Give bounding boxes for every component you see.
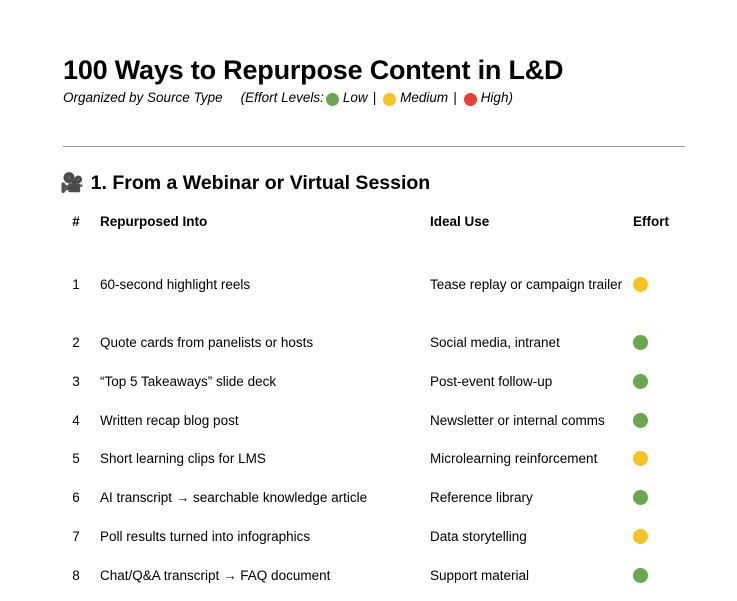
row-number: 7 bbox=[63, 527, 89, 546]
legend-item-high: High bbox=[462, 90, 509, 106]
row-effort-cell bbox=[633, 374, 679, 394]
row-ideal-use: Social media, intranet bbox=[430, 333, 640, 352]
movie-camera-icon: 🎥 bbox=[60, 174, 84, 193]
row-number: 8 bbox=[63, 566, 89, 585]
row-effort-cell bbox=[633, 413, 679, 433]
row-repurposed-into: Quote cards from panelists or hosts bbox=[100, 333, 420, 352]
table-row: 4Written recap blog postNewsletter or in… bbox=[63, 411, 683, 430]
legend-separator-1: | bbox=[373, 90, 377, 106]
legend-label-medium: Medium bbox=[400, 90, 448, 106]
row-ideal-use: Microlearning reinforcement bbox=[430, 449, 640, 468]
row-effort-cell bbox=[633, 335, 679, 355]
section-heading-text: 1. From a Webinar or Virtual Session bbox=[91, 172, 431, 195]
effort-dot-medium-icon bbox=[633, 529, 648, 544]
effort-dot-low-icon bbox=[633, 413, 648, 428]
row-ideal-use: Reference library bbox=[430, 488, 640, 507]
column-header-use: Ideal Use bbox=[430, 214, 640, 229]
document-page: 100 Ways to Repurpose Content in L&D Org… bbox=[0, 0, 737, 577]
row-repurposed-into: Poll results turned into infographics bbox=[100, 527, 420, 546]
subtitle-row: Organized by Source Type (Effort Levels:… bbox=[63, 90, 513, 106]
legend-separator-2: | bbox=[453, 90, 457, 106]
row-number: 2 bbox=[63, 333, 89, 352]
row-repurposed-into: “Top 5 Takeaways” slide deck bbox=[100, 372, 420, 391]
column-header-number: # bbox=[63, 214, 89, 229]
table-row: 5Short learning clips for LMSMicrolearni… bbox=[63, 449, 683, 468]
legend-dot-low-icon bbox=[326, 93, 339, 106]
row-ideal-use: Support material bbox=[430, 566, 640, 585]
row-repurposed-into: Short learning clips for LMS bbox=[100, 449, 420, 468]
table-row: 160-second highlight reelsTease replay o… bbox=[63, 275, 683, 294]
table-row: 8Chat/Q&A transcript → FAQ documentSuppo… bbox=[63, 566, 683, 585]
row-repurposed-into: 60-second highlight reels bbox=[100, 275, 420, 294]
repurpose-table: # Repurposed Into Ideal Use Effort 160-s… bbox=[63, 214, 683, 601]
legend-label-high: High bbox=[481, 90, 509, 106]
table-row: 3“Top 5 Takeaways” slide deckPost-event … bbox=[63, 372, 683, 391]
table-body: 160-second highlight reelsTease replay o… bbox=[63, 241, 683, 601]
row-effort-cell bbox=[633, 529, 679, 549]
row-effort-cell bbox=[633, 568, 679, 588]
effort-dot-medium-icon bbox=[633, 451, 648, 466]
row-number: 1 bbox=[63, 275, 89, 294]
legend-label-low: Low bbox=[343, 90, 368, 106]
column-header-effort: Effort bbox=[633, 214, 679, 229]
table-row: 7Poll results turned into infographicsDa… bbox=[63, 527, 683, 546]
legend-dot-high-icon bbox=[464, 93, 477, 106]
effort-dot-low-icon bbox=[633, 374, 648, 389]
legend-dot-medium-icon bbox=[383, 93, 396, 106]
row-number: 3 bbox=[63, 372, 89, 391]
legend-suffix: ) bbox=[508, 90, 513, 106]
row-ideal-use: Data storytelling bbox=[430, 527, 640, 546]
row-repurposed-into: AI transcript → searchable knowledge art… bbox=[100, 488, 420, 507]
header-divider bbox=[63, 146, 685, 147]
effort-dot-low-icon bbox=[633, 335, 648, 350]
page-title: 100 Ways to Repurpose Content in L&D bbox=[63, 55, 563, 86]
row-number: 6 bbox=[63, 488, 89, 507]
legend-prefix: (Effort Levels: bbox=[241, 90, 324, 106]
row-ideal-use: Newsletter or internal comms bbox=[430, 411, 640, 430]
row-repurposed-into: Chat/Q&A transcript → FAQ document bbox=[100, 566, 420, 585]
effort-dot-low-icon bbox=[633, 568, 648, 583]
row-number: 5 bbox=[63, 449, 89, 468]
column-header-item: Repurposed Into bbox=[100, 214, 420, 229]
table-header-row: # Repurposed Into Ideal Use Effort bbox=[63, 214, 683, 241]
legend-item-low: Low bbox=[324, 90, 368, 106]
legend-item-medium: Medium bbox=[381, 90, 448, 106]
row-ideal-use: Post-event follow-up bbox=[430, 372, 640, 391]
row-effort-cell bbox=[633, 490, 679, 510]
table-row: 6AI transcript → searchable knowledge ar… bbox=[63, 488, 683, 507]
subtitle-source-type: Organized by Source Type bbox=[63, 90, 223, 106]
section-header: 🎥 1. From a Webinar or Virtual Session bbox=[60, 172, 430, 195]
effort-legend: (Effort Levels: Low | Medium | High ) bbox=[241, 90, 513, 106]
row-number: 4 bbox=[63, 411, 89, 430]
row-effort-cell bbox=[633, 277, 679, 297]
table-row: 2Quote cards from panelists or hostsSoci… bbox=[63, 333, 683, 352]
effort-dot-low-icon bbox=[633, 490, 648, 505]
row-ideal-use: Tease replay or campaign trailer bbox=[430, 275, 640, 294]
effort-dot-medium-icon bbox=[633, 277, 648, 292]
row-effort-cell bbox=[633, 451, 679, 471]
row-repurposed-into: Written recap blog post bbox=[100, 411, 420, 430]
